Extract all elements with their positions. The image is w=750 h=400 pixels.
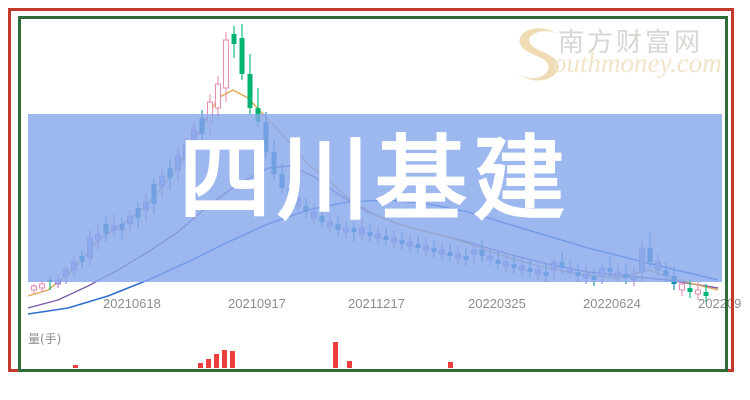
candle-body bbox=[32, 286, 37, 290]
candle-body bbox=[568, 268, 573, 272]
stock-candlestick-chart bbox=[28, 18, 722, 318]
candle-body bbox=[248, 74, 253, 108]
candle-body bbox=[224, 40, 229, 88]
candle-body bbox=[296, 198, 301, 206]
candle-body bbox=[592, 276, 597, 280]
candle bbox=[584, 266, 589, 284]
candle bbox=[128, 210, 133, 232]
candle bbox=[56, 274, 61, 288]
candle bbox=[328, 214, 333, 232]
candle-body bbox=[648, 248, 653, 262]
candle-body bbox=[632, 276, 637, 280]
candle-body bbox=[504, 262, 509, 266]
candle bbox=[392, 230, 397, 248]
volume-bar bbox=[73, 365, 78, 368]
candle bbox=[384, 228, 389, 246]
candle-body bbox=[96, 234, 101, 240]
volume-bar bbox=[214, 354, 219, 368]
candle bbox=[424, 238, 429, 256]
volume-bar bbox=[230, 351, 235, 368]
candle-body bbox=[656, 262, 661, 270]
ma-short-line bbox=[28, 90, 718, 296]
moving-average-lines bbox=[28, 90, 718, 314]
candle-body bbox=[144, 202, 149, 210]
candle-body bbox=[264, 122, 269, 152]
candle-body bbox=[456, 254, 461, 258]
candle bbox=[120, 218, 125, 240]
candle-body bbox=[208, 102, 213, 122]
candle bbox=[376, 226, 381, 244]
candle-body bbox=[528, 268, 533, 272]
candle-body bbox=[56, 280, 61, 284]
candle bbox=[320, 208, 325, 228]
candle bbox=[464, 248, 469, 266]
candle-body bbox=[560, 262, 565, 268]
candle-body bbox=[416, 244, 421, 248]
chart-screenshot: 四川基建 20210618202109172021121720220325202… bbox=[0, 0, 750, 400]
candle bbox=[88, 230, 93, 266]
candle bbox=[168, 160, 173, 190]
candle-body bbox=[360, 228, 365, 234]
candle-body bbox=[200, 118, 205, 134]
candle-body bbox=[304, 206, 309, 212]
candle bbox=[576, 264, 581, 282]
x-axis-tick-label: 20211217 bbox=[348, 296, 405, 311]
candle-body bbox=[48, 280, 53, 282]
candle bbox=[368, 224, 373, 242]
candle-body bbox=[216, 84, 221, 108]
candle-body bbox=[64, 270, 69, 276]
candle bbox=[256, 88, 261, 128]
volume-bar bbox=[206, 359, 211, 368]
x-axis-tick-label: 20220624 bbox=[583, 296, 641, 311]
candle bbox=[104, 216, 109, 242]
candle-body bbox=[520, 266, 525, 270]
candle bbox=[200, 110, 205, 146]
candle bbox=[40, 280, 45, 292]
candle bbox=[440, 242, 445, 260]
candle-body bbox=[368, 232, 373, 236]
candle bbox=[240, 24, 245, 80]
candle-body bbox=[696, 290, 701, 294]
candle bbox=[312, 204, 317, 224]
candle-body bbox=[152, 184, 157, 204]
candle-body bbox=[232, 34, 237, 44]
candle-body bbox=[88, 238, 93, 258]
candle bbox=[232, 26, 237, 58]
candle bbox=[208, 94, 213, 134]
candle-body bbox=[80, 256, 85, 262]
candle bbox=[32, 284, 37, 294]
candle bbox=[640, 240, 645, 282]
candle-body bbox=[584, 274, 589, 278]
volume-bar bbox=[198, 363, 203, 368]
candle bbox=[680, 276, 685, 296]
candle bbox=[352, 222, 357, 242]
candle bbox=[96, 224, 101, 250]
x-axis-tick-label: 202209 bbox=[698, 296, 741, 311]
candle-body bbox=[272, 152, 277, 174]
candle bbox=[176, 148, 181, 182]
candle-body bbox=[496, 260, 501, 264]
candle bbox=[536, 262, 541, 280]
candle bbox=[448, 244, 453, 262]
candle-body bbox=[336, 224, 341, 230]
candle bbox=[216, 76, 221, 120]
candle-body bbox=[256, 108, 261, 122]
candle bbox=[456, 246, 461, 264]
candle-body bbox=[480, 250, 485, 256]
candle-body bbox=[384, 236, 389, 240]
candle-body bbox=[328, 222, 333, 226]
candlestick-svg bbox=[28, 18, 722, 318]
candle-body bbox=[128, 216, 133, 224]
x-axis-tick-label: 20220325 bbox=[468, 296, 526, 311]
candle bbox=[632, 266, 637, 286]
candle-body bbox=[464, 256, 469, 260]
candle bbox=[568, 260, 573, 278]
volume-bar bbox=[333, 342, 338, 368]
candle bbox=[280, 164, 285, 194]
candle-body bbox=[672, 276, 677, 284]
candle-body bbox=[680, 284, 685, 290]
candle bbox=[472, 244, 477, 264]
candle-body bbox=[184, 144, 189, 160]
candle-body bbox=[352, 228, 357, 232]
candle-body bbox=[616, 272, 621, 276]
candle bbox=[64, 266, 69, 284]
candle bbox=[304, 198, 309, 218]
volume-bars-svg bbox=[28, 338, 722, 372]
volume-bar-layer bbox=[73, 342, 453, 368]
candle-body bbox=[472, 250, 477, 254]
candle bbox=[144, 194, 149, 222]
candle-body bbox=[600, 268, 605, 276]
candle bbox=[336, 216, 341, 236]
candle bbox=[408, 234, 413, 252]
candle-body bbox=[112, 226, 117, 230]
candle bbox=[112, 214, 117, 236]
candle bbox=[552, 258, 557, 280]
candle bbox=[192, 122, 197, 158]
candle bbox=[136, 202, 141, 228]
candle bbox=[248, 54, 253, 114]
volume-panel: 量(手) bbox=[28, 330, 722, 372]
volume-bar bbox=[448, 362, 453, 368]
candle-body bbox=[432, 248, 437, 252]
candle-body bbox=[376, 234, 381, 238]
candle-body bbox=[280, 174, 285, 188]
candle-body bbox=[400, 240, 405, 244]
candle-body bbox=[168, 168, 173, 178]
candle-body bbox=[312, 212, 317, 218]
candle-body bbox=[576, 272, 581, 276]
candle-body bbox=[320, 216, 325, 222]
candle bbox=[400, 232, 405, 250]
candle-body bbox=[192, 130, 197, 148]
volume-bar bbox=[222, 350, 227, 368]
candle-body bbox=[240, 38, 245, 74]
candle bbox=[288, 180, 293, 204]
candle bbox=[416, 236, 421, 254]
candle bbox=[224, 32, 229, 102]
candle-body bbox=[40, 284, 45, 288]
candle-body bbox=[608, 268, 613, 272]
candle bbox=[272, 140, 277, 180]
candle-body bbox=[688, 288, 693, 292]
candle-body bbox=[624, 274, 629, 278]
candle bbox=[152, 178, 157, 214]
candle-body bbox=[424, 246, 429, 250]
candle bbox=[592, 268, 597, 286]
candle-body bbox=[664, 270, 669, 276]
candle bbox=[296, 190, 301, 212]
candle bbox=[360, 218, 365, 240]
candle-body bbox=[72, 262, 77, 270]
candle-body bbox=[536, 270, 541, 274]
candle-body bbox=[408, 242, 413, 246]
candle-body bbox=[176, 156, 181, 170]
candle-body bbox=[392, 238, 397, 242]
candle-body bbox=[160, 176, 165, 186]
candle bbox=[48, 276, 53, 290]
candle bbox=[600, 264, 605, 284]
candle-body bbox=[488, 256, 493, 260]
candle bbox=[184, 138, 189, 170]
candle-body bbox=[136, 208, 141, 218]
candle-body bbox=[512, 264, 517, 268]
x-axis-labels: 2021061820210917202112172022032520220624… bbox=[28, 296, 728, 316]
x-axis-tick-label: 20210618 bbox=[103, 296, 161, 311]
candle-body bbox=[104, 224, 109, 234]
candle-body bbox=[544, 272, 549, 276]
candle-body bbox=[640, 248, 645, 272]
candle bbox=[432, 240, 437, 258]
candle-body bbox=[440, 250, 445, 254]
candle-body bbox=[288, 188, 293, 198]
candle-body bbox=[120, 224, 125, 230]
candle bbox=[624, 264, 629, 284]
candle bbox=[160, 168, 165, 198]
candle bbox=[80, 250, 85, 268]
volume-bar bbox=[347, 361, 352, 368]
candle-body bbox=[552, 262, 557, 270]
candle-body bbox=[448, 252, 453, 256]
candle-body bbox=[344, 228, 349, 232]
candle bbox=[72, 256, 77, 276]
candle bbox=[480, 240, 485, 262]
candle bbox=[344, 220, 349, 238]
x-axis-tick-label: 20210917 bbox=[228, 296, 286, 311]
candle bbox=[616, 262, 621, 282]
